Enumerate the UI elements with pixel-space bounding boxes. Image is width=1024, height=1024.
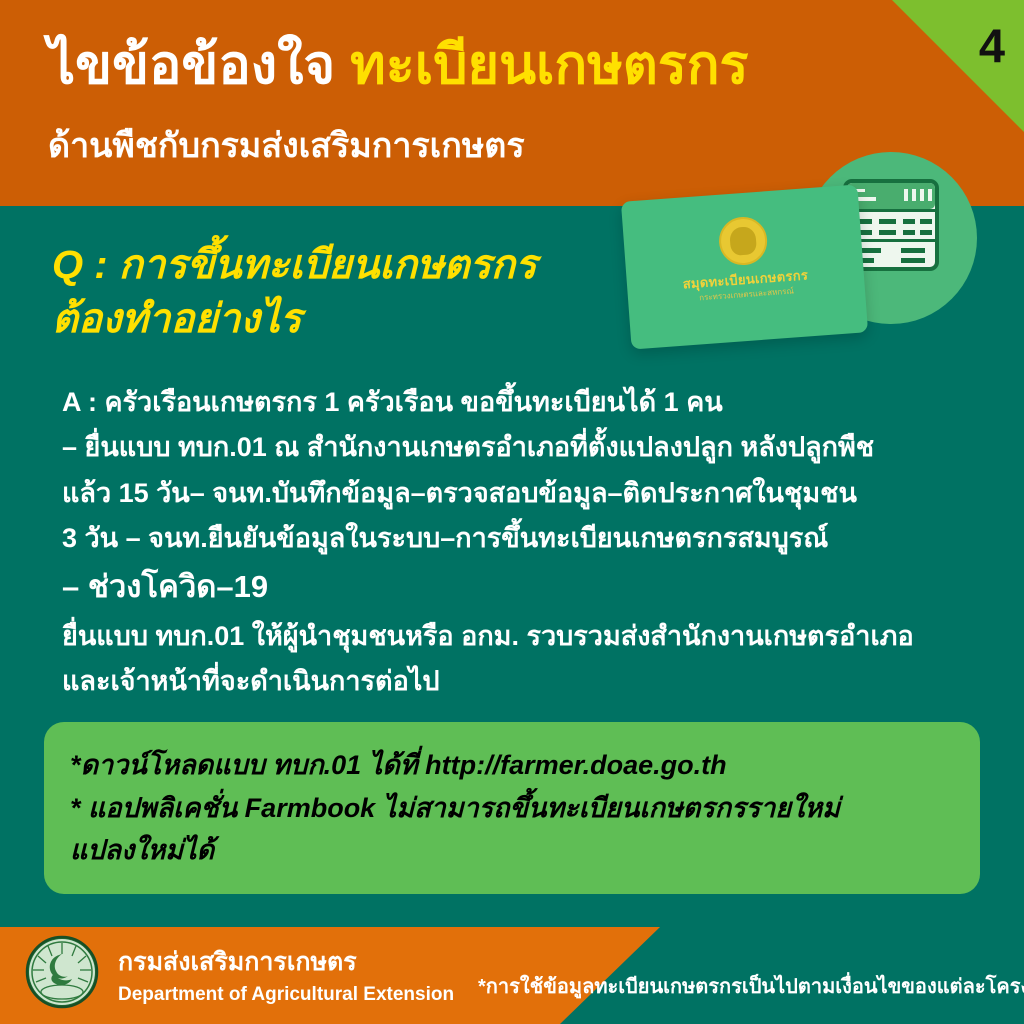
book-seal-icon (717, 215, 768, 266)
title-part-yellow: ทะเบียนเกษตรกร (350, 35, 748, 95)
answer-line: A : ครัวเรือนเกษตรกร 1 ครัวเรือน ขอขึ้นท… (62, 380, 1024, 425)
page-number: 4 (979, 22, 1004, 69)
footer-disclaimer: *การใช้ข้อมูลทะเบียนเกษตรกรเป็นไปตามเงื่… (478, 970, 1024, 1002)
infographic-poster: 4 ไขข้อข้องใจ ทะเบียนเกษตรกร ด้านพืชกับก… (0, 0, 1024, 1024)
note-line-download: *ดาวน์โหลดแบบ ทบก.01 ได้ที่ http://farme… (70, 744, 954, 787)
department-name-th: กรมส่งเสริมการเกษตร (118, 942, 357, 982)
question-block: Q : การขึ้นทะเบียนเกษตรกร ต้องทำอย่างไร (52, 238, 672, 346)
note-line-farmbook: * แอปพลิเคชั่น Farmbook ไม่สามารถขึ้นทะเ… (70, 787, 954, 830)
corner-triangle-badge (892, 0, 1024, 132)
answer-block: A : ครัวเรือนเกษตรกร 1 ครัวเรือน ขอขึ้นท… (62, 380, 1024, 704)
question-line-2: ต้องทำอย่างไร (52, 292, 672, 346)
answer-line: และเจ้าหน้าที่จะดำเนินการต่อไป (62, 659, 1024, 704)
answer-line: 3 วัน – จนท.ยืนยันข้อมูลในระบบ–การขึ้นทะ… (62, 516, 1024, 561)
answer-line-covid: – ช่วงโควิด–19 (62, 561, 1024, 613)
department-logo-icon (24, 934, 100, 1010)
title-part-white: ไขข้อข้องใจ (48, 35, 335, 95)
question-line-1: Q : การขึ้นทะเบียนเกษตรกร (52, 238, 672, 292)
answer-line: แล้ว 15 วัน– จนท.บันทึกข้อมูล–ตรวจสอบข้อ… (62, 471, 1024, 516)
answer-line: – ยื่นแบบ ทบก.01 ณ สำนักงานเกษตรอำเภอที่… (62, 425, 1024, 470)
note-box: *ดาวน์โหลดแบบ ทบก.01 ได้ที่ http://farme… (44, 722, 980, 894)
answer-line: ยื่นแบบ ทบก.01 ให้ผู้นำชุมชนหรือ อกม. รว… (62, 614, 1024, 659)
note-line-farmbook-cont: แปลงใหม่ได้ (70, 829, 954, 872)
department-name-en: Department of Agricultural Extension (118, 984, 454, 1006)
page-title: ไขข้อข้องใจ ทะเบียนเกษตรกร (48, 34, 749, 98)
page-subtitle: ด้านพืชกับกรมส่งเสริมการเกษตร (48, 126, 525, 167)
